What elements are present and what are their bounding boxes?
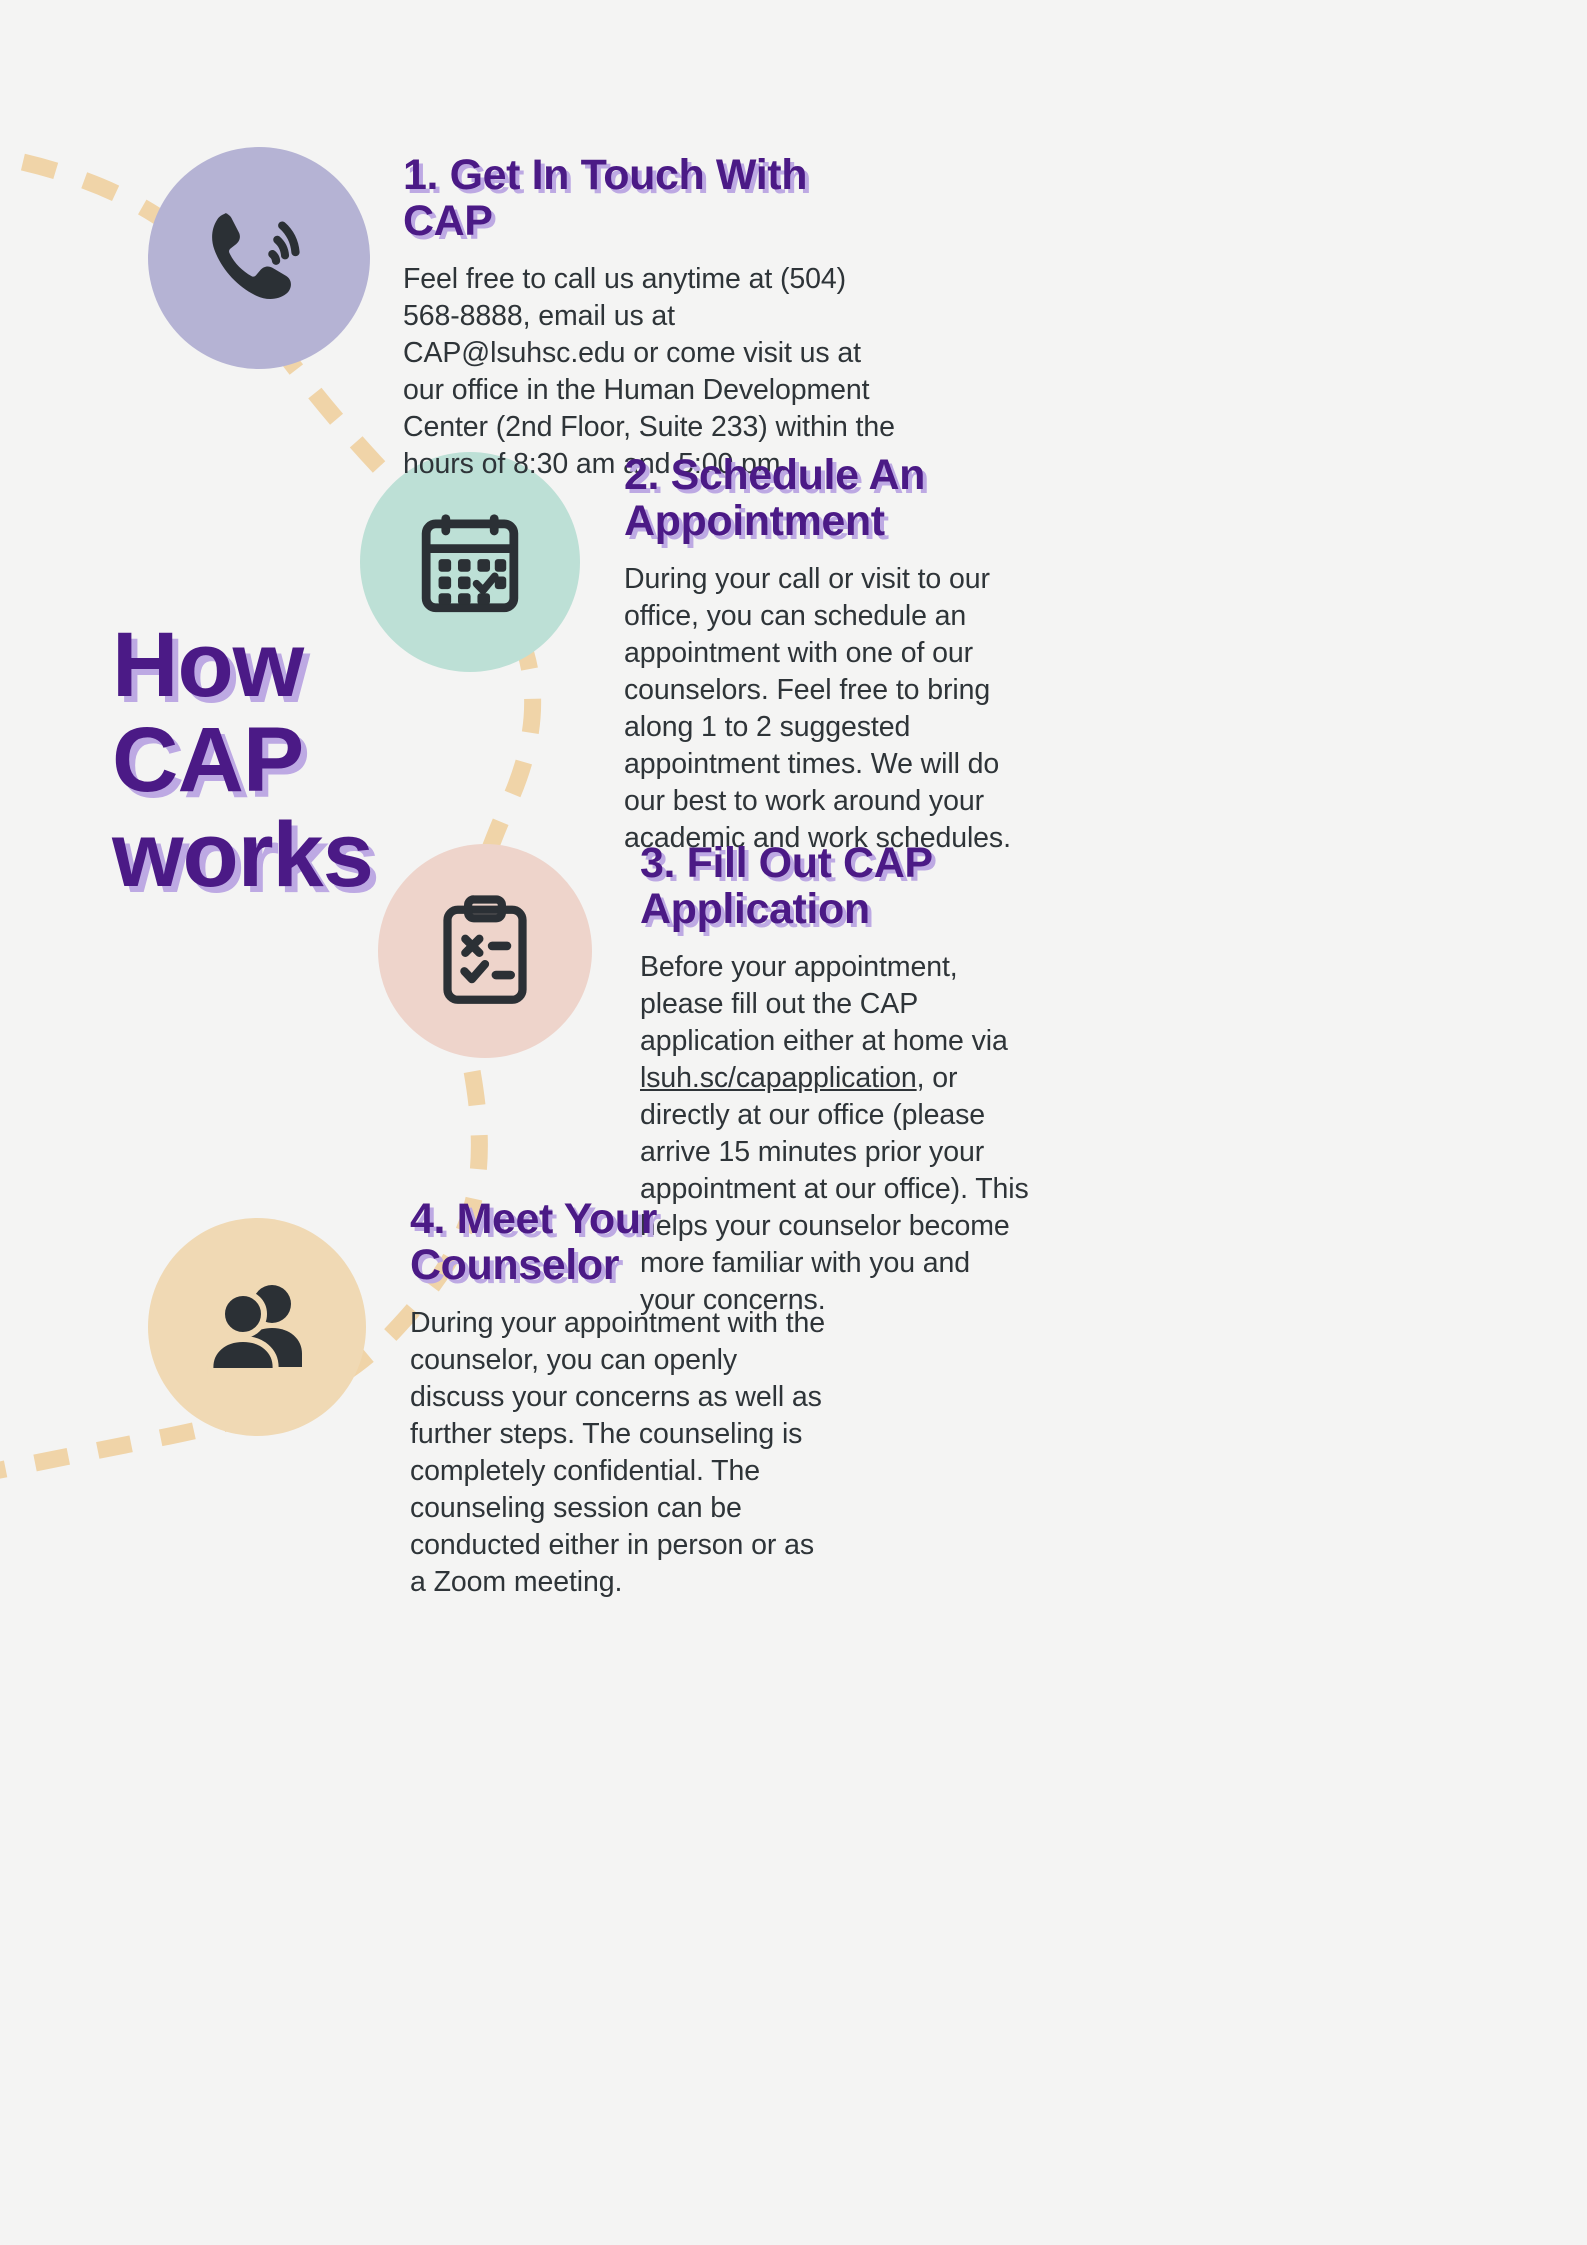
- page-title: How CAP works: [112, 618, 402, 902]
- step-1-heading: 1. Get In Touch With CAP: [403, 152, 903, 245]
- page-title-line-3: works: [112, 808, 402, 903]
- clipboard-checklist-icon: [425, 891, 545, 1011]
- step-4-text-block: 4. Meet Your Counselor During your appoi…: [410, 1196, 830, 1601]
- page-title-line-1: How: [112, 618, 402, 713]
- step-4-heading: 4. Meet Your Counselor: [410, 1196, 830, 1289]
- calendar-check-icon: [409, 501, 531, 623]
- step-1-text-block: 1. Get In Touch With CAP Feel free to ca…: [403, 152, 903, 483]
- page-title-line-2: CAP: [112, 713, 402, 808]
- step-3-heading: 3. Fill Out CAP Application: [640, 840, 1030, 933]
- step-1-icon-circle: [148, 147, 370, 369]
- cap-application-link[interactable]: lsuh.sc/capapplication: [640, 1062, 917, 1094]
- step-4-body: During your appointment with the counsel…: [410, 1305, 830, 1601]
- step-4-icon-circle: [148, 1218, 366, 1436]
- step-2-text-block: 2. Schedule An Appointment During your c…: [624, 452, 1016, 857]
- phone-ringing-icon: [192, 191, 327, 326]
- step-2-heading: 2. Schedule An Appointment: [624, 452, 1016, 545]
- step-2-body: During your call or visit to our office,…: [624, 561, 1016, 857]
- step-3-icon-circle: [378, 844, 592, 1058]
- infographic-canvas: 1. Get In Touch With CAP Feel free to ca…: [0, 0, 1587, 2245]
- people-group-icon: [193, 1263, 321, 1391]
- step-3-body-before-link: Before your appointment, please fill out…: [640, 951, 1008, 1057]
- step-1-body: Feel free to call us anytime at (504) 56…: [403, 261, 903, 483]
